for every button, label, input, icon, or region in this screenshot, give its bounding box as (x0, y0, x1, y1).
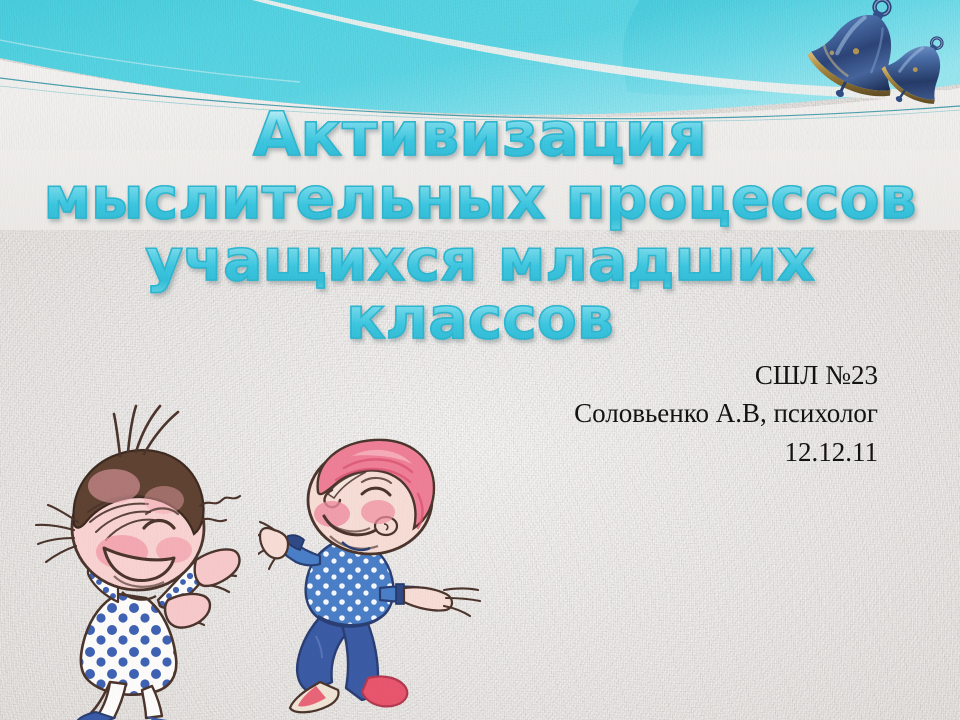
school-bells-decoration (798, 0, 960, 108)
title-line-1: Активизация (28, 104, 932, 165)
walking-boy-illustration (258, 438, 500, 720)
title-line-2: мыслительных процессов (28, 169, 932, 227)
dancing-girl-illustration (18, 404, 270, 720)
subtitle-school: СШЛ №23 (358, 356, 878, 394)
presentation-slide: Активизация мыслительных процессов учащи… (0, 0, 960, 720)
title-line-3: учащихся младших классов (28, 231, 932, 347)
subtitle-author: Соловьенко А.В, психолог (358, 394, 878, 432)
slide-title: Активизация мыслительных процессов учащи… (28, 104, 932, 347)
